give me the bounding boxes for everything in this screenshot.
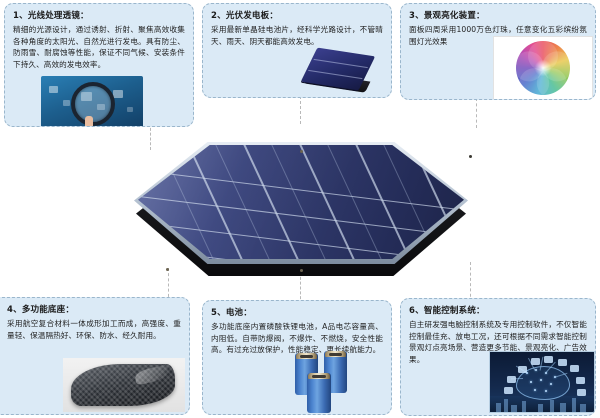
color-wheel-icon bbox=[493, 36, 593, 100]
feature-card-4-title: 4、多功能底座： bbox=[0, 304, 181, 317]
central-solar-panel-hexagon bbox=[128, 112, 476, 292]
feature-card-6-title: 6、智能控制系统： bbox=[409, 305, 587, 318]
hud-icon-8 bbox=[504, 387, 513, 394]
connector-line-3 bbox=[476, 98, 477, 128]
feature-card-1-title: 1、光线处理透镜： bbox=[13, 10, 185, 23]
hud-icon-7 bbox=[576, 377, 585, 384]
smart-control-network-icon bbox=[489, 351, 595, 413]
anchor-dot-bottom bbox=[300, 269, 303, 272]
feature-card-1[interactable]: 1、光线处理透镜： 精细的光源设计，通过诱射、折射、聚焦高效收集各种角度的太阳光… bbox=[4, 3, 194, 127]
anchor-dot-top bbox=[300, 150, 303, 153]
anchor-dot-bottom-left bbox=[166, 268, 169, 271]
hud-icon-5 bbox=[570, 365, 579, 372]
carbon-fiber-base-icon bbox=[63, 358, 185, 412]
feature-card-2-body: 采用最新单晶硅电池片，经科学光路设计，不管晴天、雨天、阴天都能高效发电。 bbox=[211, 24, 383, 47]
feature-card-1-body: 精细的光源设计，通过诱射、折射、聚焦高效收集各种角度的太阳光、自然光进行发电。具… bbox=[13, 24, 185, 70]
photovoltaic-panel-icon bbox=[298, 50, 380, 96]
feature-card-5[interactable]: 5、电池： 多功能底座内置磷酸铁锂电池，A品电芯容量高、内阻低。自带防爆阀，不爆… bbox=[202, 300, 392, 415]
feature-card-3[interactable]: 3、景观亮化装置： 面板四周采用1000万色灯珠，任意变化五彩缤纷氛围灯光效果 bbox=[400, 3, 596, 100]
lens-ring-icon bbox=[71, 82, 115, 126]
hud-icon-4 bbox=[558, 359, 567, 366]
hud-icon-1 bbox=[518, 366, 527, 373]
battery-cell-front bbox=[307, 373, 331, 413]
hud-icon-2 bbox=[531, 358, 540, 365]
hud-icon-6 bbox=[507, 376, 516, 383]
infographic-stage: 1、光线处理透镜： 精细的光源设计，通过诱射、折射、聚焦高效收集各种角度的太阳光… bbox=[0, 0, 600, 418]
feature-card-5-title: 5、电池： bbox=[211, 307, 383, 320]
anchor-dot-right bbox=[469, 155, 472, 158]
feature-card-2-title: 2、光伏发电板： bbox=[211, 10, 383, 23]
hud-icon-3 bbox=[544, 356, 553, 363]
magnifier-lens-icon bbox=[41, 76, 143, 127]
feature-card-4[interactable]: 4、多功能底座： 采用航空复合材料一体成形加工而成，高强度、重量轻、保温隔热好、… bbox=[0, 297, 190, 415]
lithium-battery-cells-icon bbox=[295, 347, 391, 413]
feature-card-6[interactable]: 6、智能控制系统： 自主研发强电脑控制系统及专用控制软件，不仅智能控制最佳充、放… bbox=[400, 298, 596, 416]
hud-icon-9 bbox=[577, 389, 586, 396]
lens-handle-icon bbox=[85, 116, 93, 127]
carbon-fiber-shell bbox=[71, 364, 175, 406]
feature-card-4-body: 采用航空复合材料一体成形加工而成，高强度、重量轻、保温隔热好、环保、防水、经久耐… bbox=[0, 318, 181, 341]
feature-card-3-title: 3、景观亮化装置： bbox=[409, 10, 587, 23]
feature-card-2[interactable]: 2、光伏发电板： 采用最新单晶硅电池片，经科学光路设计，不管晴天、雨天、阴天都能… bbox=[202, 3, 392, 98]
